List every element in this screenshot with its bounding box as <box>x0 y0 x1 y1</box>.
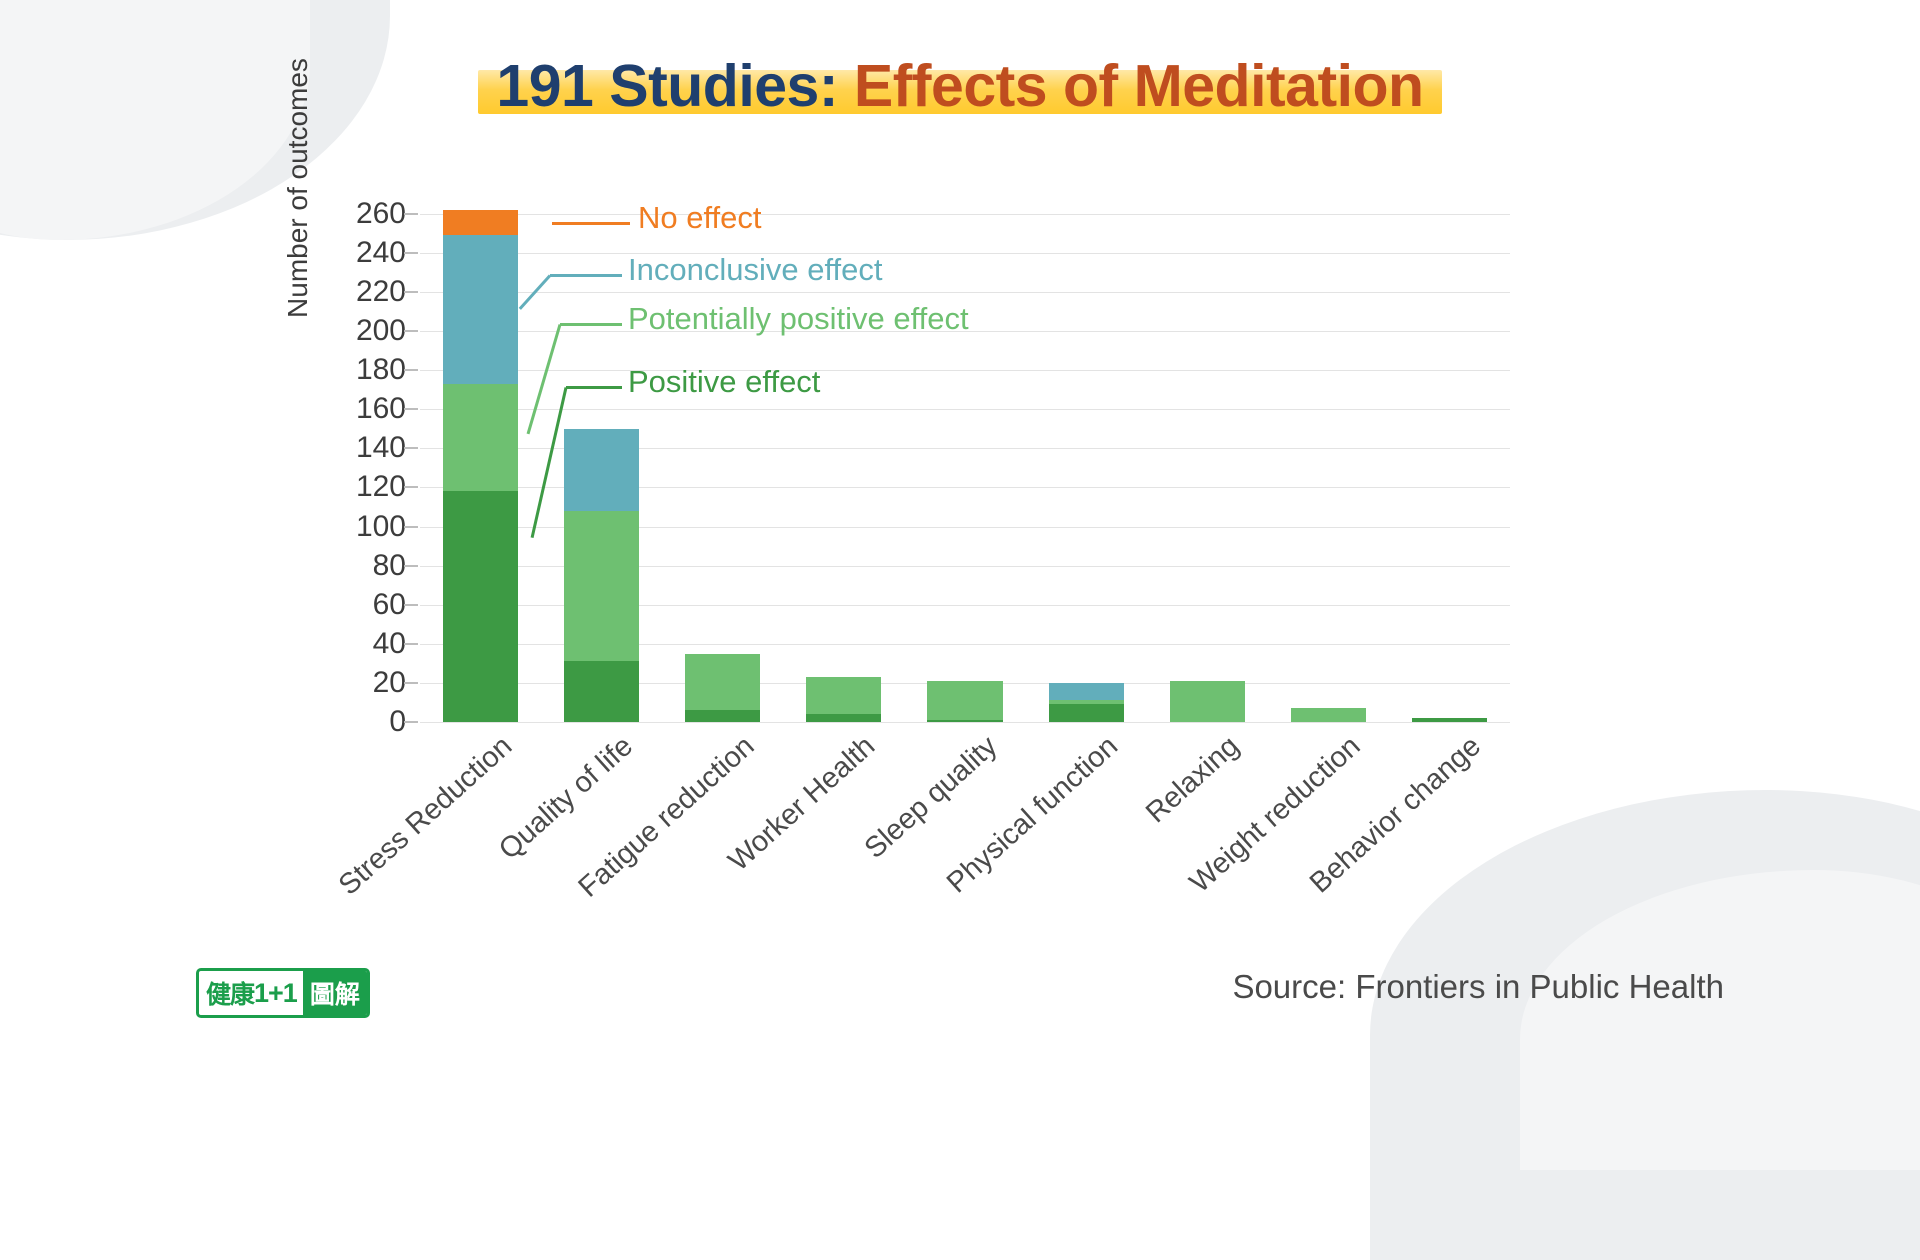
legend-leader-line <box>552 222 630 225</box>
bar-segment[interactable] <box>443 235 518 384</box>
bar-segment[interactable] <box>1049 683 1124 701</box>
bar-segment[interactable] <box>564 661 639 722</box>
legend-leader-line <box>550 274 622 277</box>
bar-segment[interactable] <box>806 677 881 714</box>
y-tick-mark <box>404 526 418 528</box>
x-tick-label: Stress Reduction <box>333 730 519 902</box>
y-tick-label: 40 <box>286 627 406 661</box>
source-caption: Source: Frontiers in Public Health <box>1232 968 1724 1006</box>
bar-segment[interactable] <box>685 654 760 711</box>
y-tick-label: 20 <box>286 666 406 700</box>
y-tick-label: 180 <box>286 353 406 387</box>
bar-segment[interactable] <box>1049 704 1124 722</box>
legend-leader-line <box>566 386 622 389</box>
y-tick-mark <box>404 643 418 645</box>
brand-logo: HEALTH 健康 1+1 圖解 <box>196 968 370 1018</box>
y-tick-mark <box>404 408 418 410</box>
y-tick-label: 60 <box>286 588 406 622</box>
bar-column[interactable] <box>1049 204 1124 722</box>
legend-label[interactable]: Potentially positive effect <box>628 301 969 337</box>
y-tick-label: 260 <box>286 197 406 231</box>
bar-segment[interactable] <box>806 714 881 722</box>
bar-column[interactable] <box>1291 204 1366 722</box>
y-tick-label: 240 <box>286 236 406 270</box>
y-tick-mark <box>404 330 418 332</box>
bar-segment[interactable] <box>443 384 518 492</box>
bar-segment[interactable] <box>1049 700 1124 704</box>
bar-segment[interactable] <box>1291 708 1366 722</box>
y-tick-mark <box>404 565 418 567</box>
y-tick-mark <box>404 252 418 254</box>
y-tick-label: 120 <box>286 470 406 504</box>
bar-segment[interactable] <box>564 511 639 662</box>
title-part-studies: 191 Studies: <box>496 53 838 119</box>
legend-leader-line <box>560 323 622 326</box>
bar-column[interactable] <box>1170 204 1245 722</box>
y-tick-label: 160 <box>286 392 406 426</box>
bar-segment[interactable] <box>443 210 518 235</box>
logo-tag: 圖解 <box>303 971 367 1015</box>
legend-label[interactable]: Inconclusive effect <box>628 252 882 288</box>
y-tick-mark <box>404 447 418 449</box>
y-tick-label: 100 <box>286 510 406 544</box>
y-tick-mark <box>404 682 418 684</box>
y-tick-mark <box>404 604 418 606</box>
y-tick-mark <box>404 369 418 371</box>
logo-number: 1+1 <box>254 978 297 1009</box>
legend-label[interactable]: Positive effect <box>628 364 820 400</box>
infographic-stage: 191 Studies: Effects of Meditation Numbe… <box>0 0 1920 1080</box>
bar-column[interactable] <box>1412 204 1487 722</box>
y-tick-label: 220 <box>286 275 406 309</box>
bar-column[interactable] <box>443 204 518 722</box>
bar-segment[interactable] <box>443 491 518 722</box>
bar-segment[interactable] <box>1170 681 1245 722</box>
y-tick-mark <box>404 486 418 488</box>
legend-label[interactable]: No effect <box>638 200 762 236</box>
y-tick-mark <box>404 721 418 723</box>
x-tick-label: Relaxing <box>1140 730 1246 830</box>
page-title: 191 Studies: Effects of Meditation <box>496 52 1423 120</box>
logo-chinese-text: 健康 <box>206 975 254 1011</box>
bar-segment[interactable] <box>927 681 1002 720</box>
x-axis-labels: Stress ReductionQuality of lifeFatigue r… <box>420 722 1510 912</box>
y-tick-mark <box>404 291 418 293</box>
logo-left-block: HEALTH 健康 1+1 <box>199 971 303 1015</box>
bar-column[interactable] <box>927 204 1002 722</box>
chart-container: Number of outcomes 020406080100120140160… <box>290 190 1590 750</box>
bar-series-group <box>420 204 1510 722</box>
y-tick-label: 200 <box>286 314 406 348</box>
y-tick-label: 140 <box>286 431 406 465</box>
title-part-subject: Effects of Meditation <box>854 53 1424 119</box>
plot-area: 020406080100120140160180200220240260 Str… <box>420 204 1510 722</box>
bar-segment[interactable] <box>564 429 639 511</box>
bar-segment[interactable] <box>685 710 760 722</box>
y-tick-label: 80 <box>286 549 406 583</box>
y-tick-label: 0 <box>286 705 406 739</box>
y-tick-mark <box>404 213 418 215</box>
